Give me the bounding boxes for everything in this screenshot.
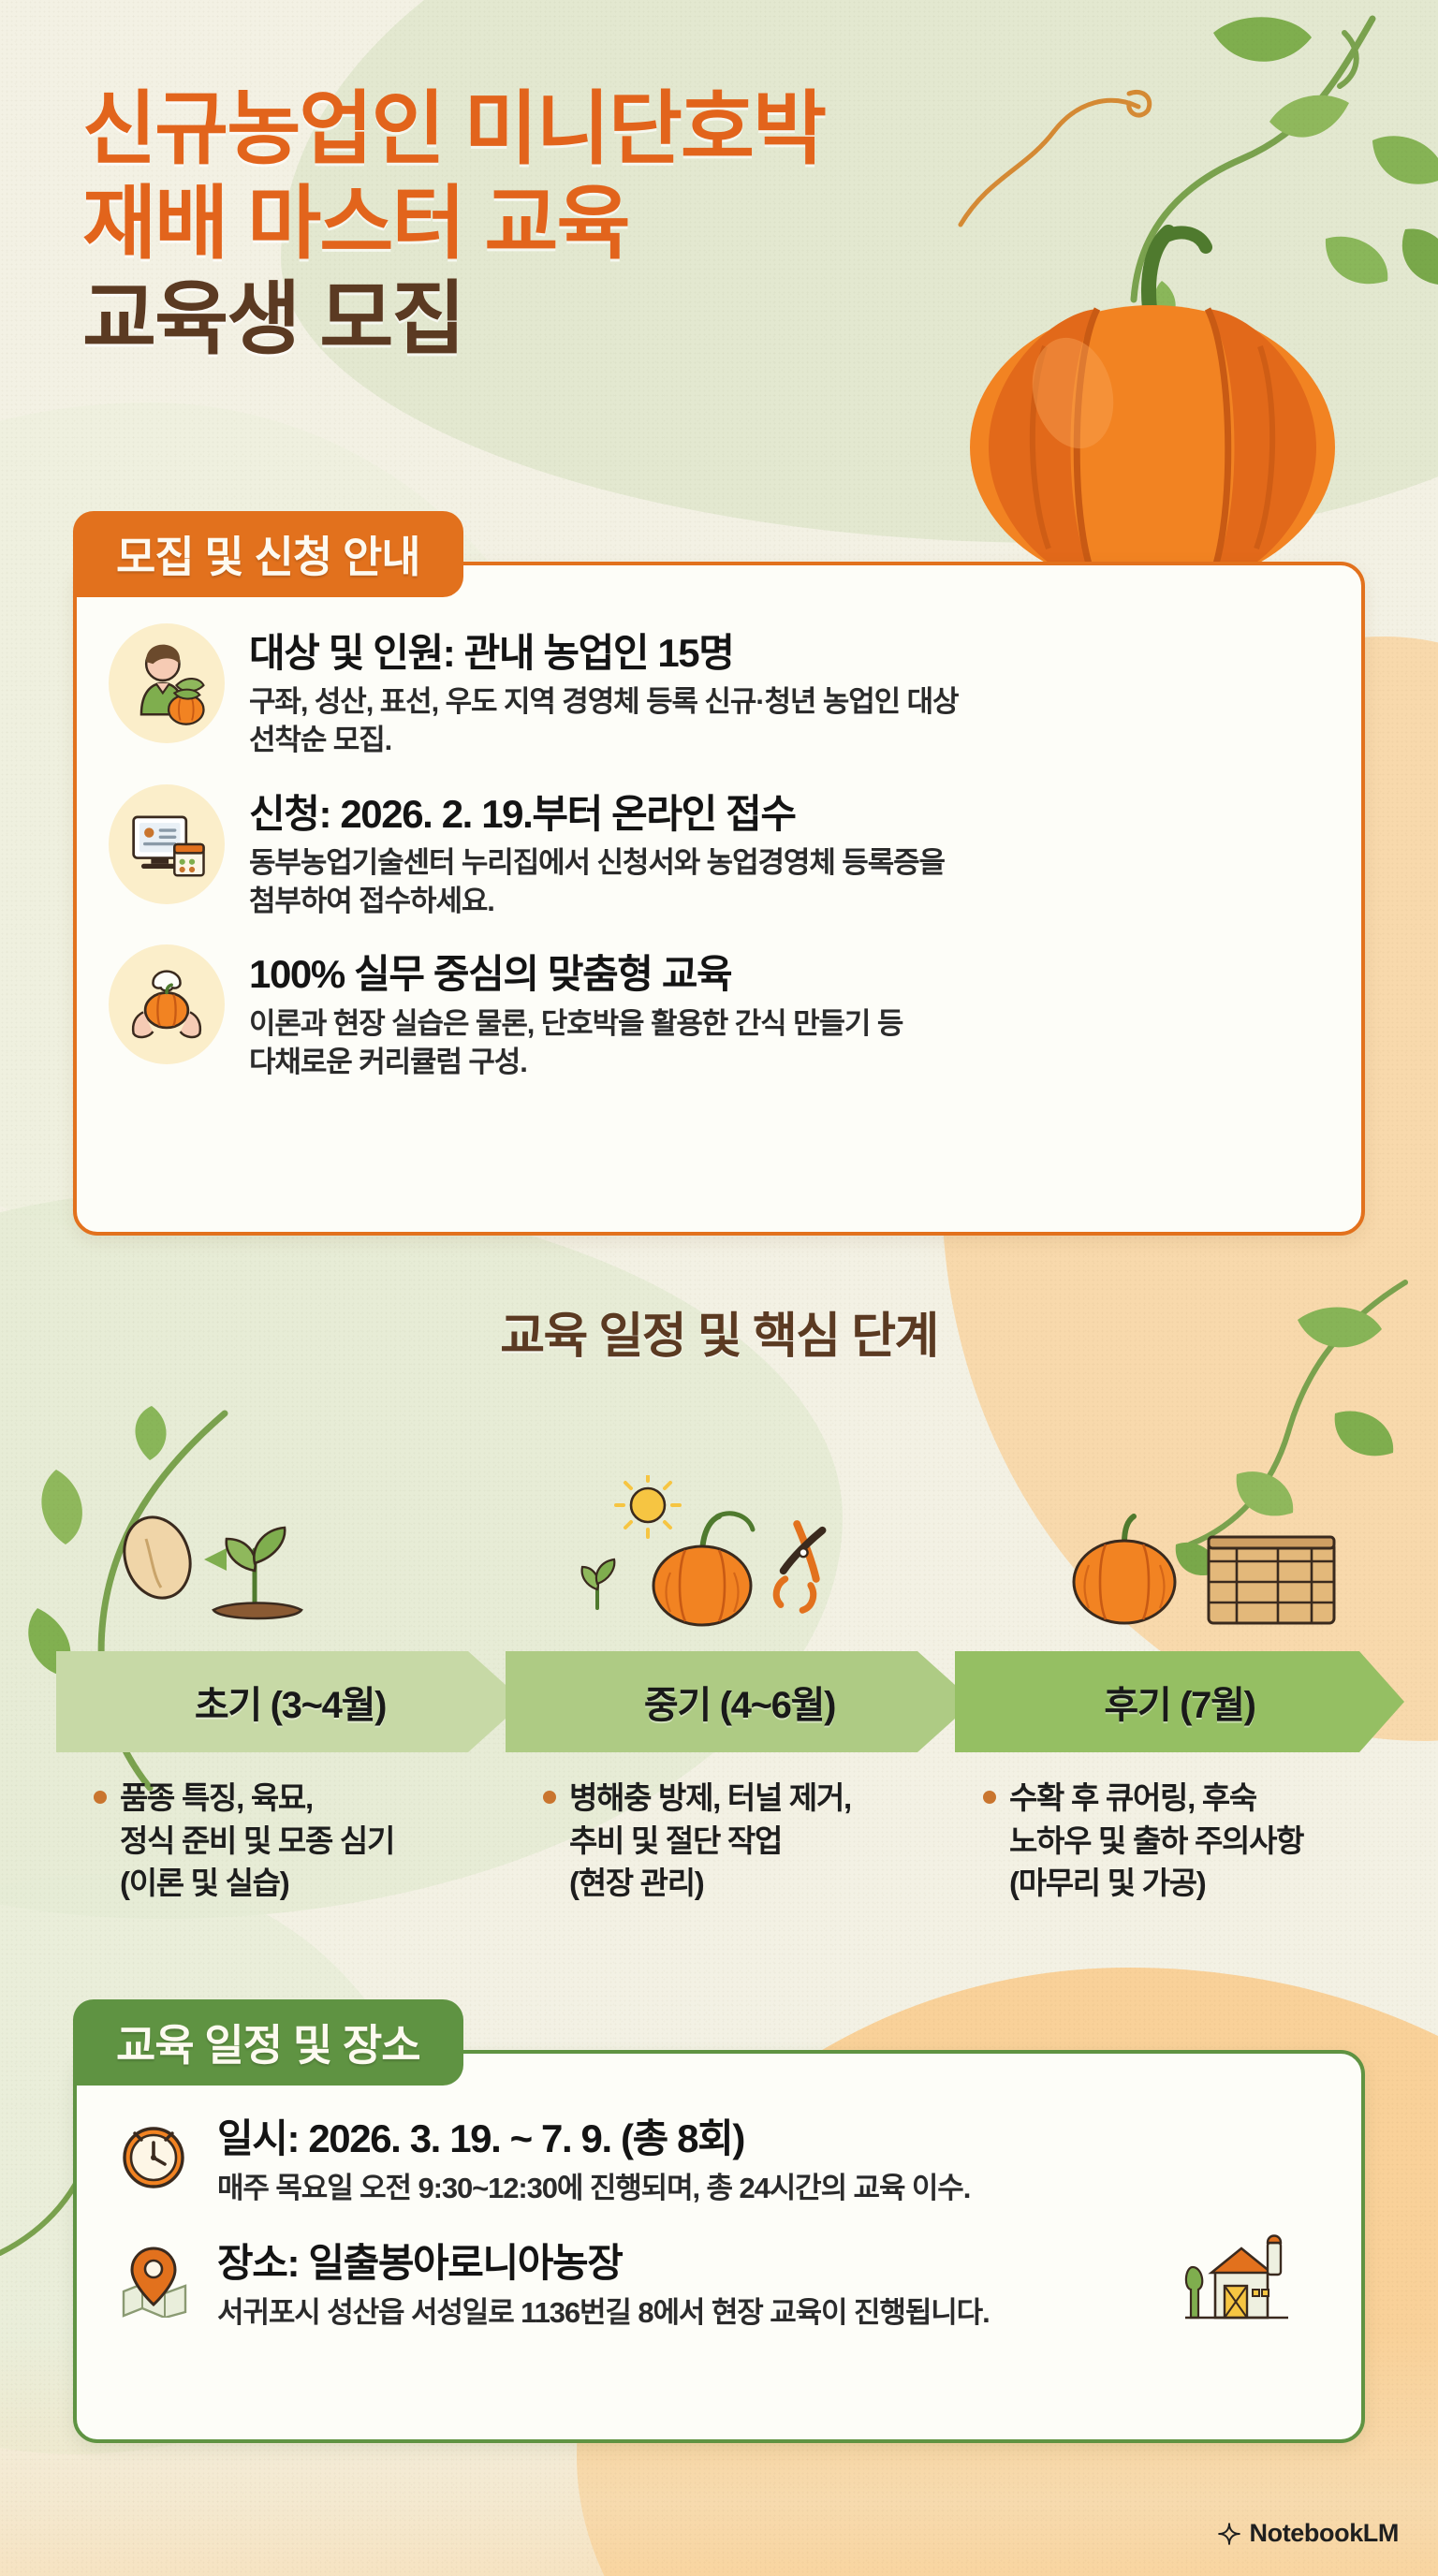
schedule-card: 교육 일정 및 장소 일시: 2026. 3. 19. ~ 7. 9. (총 8…: [73, 2050, 1365, 2443]
timeline-section-title: 교육 일정 및 핵심 단계: [0, 1296, 1438, 1367]
stage-bullet-2: 병해충 방제, 터널 제거, 추비 및 절단 작업 (현장 관리): [543, 1777, 946, 1905]
info-heading: 신청: 2026. 2. 19.부터 온라인 접수: [249, 790, 945, 838]
schedule-heading: 일시: 2026. 3. 19. ~ 7. 9. (총 8회): [217, 2115, 970, 2162]
stage-chevron-1: 초기 (3~4월): [56, 1651, 524, 1752]
recruitment-card: 모집 및 신청 안내: [73, 562, 1365, 1236]
bullet-line-2: 노하우 및 출하 주의사항: [1009, 1820, 1303, 1863]
online-application-icon: [109, 784, 225, 904]
stage-chevron-2: 중기 (4~6월): [506, 1651, 974, 1752]
schedule-body: 서귀포시 성산읍 서성일로 1136번길 8에서 현장 교육이 진행됩니다.: [217, 2294, 990, 2332]
poster-root: 신규농업인 미니단호박 재배 마스터 교육 교육생 모집 모집 및 신청 안내: [0, 0, 1438, 2576]
stage-art-1: [0, 1423, 479, 1647]
notebooklm-watermark: NotebookLM: [1217, 2519, 1399, 2548]
bullet-line-3: (마무리 및 가공): [1009, 1862, 1303, 1905]
info-text-application: 신청: 2026. 2. 19.부터 온라인 접수 동부농업기술센터 누리집에서…: [249, 784, 945, 921]
recruitment-info-list: 대상 및 인원: 관내 농업인 15명 구좌, 성산, 표선, 우도 지역 경영…: [109, 623, 1335, 1105]
title-line-1: 신규농업인 미니단호박: [82, 82, 1019, 177]
stage-art-2: [479, 1423, 959, 1647]
stage-bullet-1: 품종 특징, 육묘, 정식 준비 및 모종 심기 (이론 및 실습): [94, 1777, 506, 1905]
bullet-line-1: 품종 특징, 육묘,: [120, 1777, 394, 1820]
watermark-label: NotebookLM: [1250, 2519, 1399, 2548]
clock-icon: [114, 2115, 193, 2196]
timeline-illustrations: [0, 1423, 1438, 1647]
bullet-line-1: 수확 후 큐어링, 후숙: [1009, 1777, 1303, 1820]
schedule-row-datetime: 일시: 2026. 3. 19. ~ 7. 9. (총 8회) 매주 목요일 오…: [114, 2115, 1333, 2208]
bullet-line-2: 추비 및 절단 작업: [569, 1820, 851, 1863]
info-row-target-count: 대상 및 인원: 관내 농업인 15명 구좌, 성산, 표선, 우도 지역 경영…: [109, 623, 1335, 760]
info-body-line-1: 동부농업기술센터 누리집에서 신청서와 농업경영체 등록증을: [249, 843, 945, 882]
timeline-chevrons: 초기 (3~4월) 중기 (4~6월) 후기 (7월): [0, 1651, 1438, 1752]
map-pin-icon: [114, 2240, 193, 2320]
bullet-line-1: 병해충 방제, 터널 제거,: [569, 1777, 851, 1820]
title-line-3: 교육생 모집: [82, 272, 1019, 367]
farmer-with-pumpkin-icon: [109, 623, 225, 743]
bullet-dot-icon: [983, 1791, 996, 1804]
training-timeline: 초기 (3~4월) 중기 (4~6월) 후기 (7월) 품종 특징, 육묘, 정…: [0, 1423, 1438, 1964]
bullet-dot-icon: [94, 1791, 107, 1804]
info-text-curriculum: 100% 실무 중심의 맞춤형 교육 이론과 현장 실습은 물론, 단호박을 활…: [249, 944, 902, 1081]
bullet-dot-icon: [543, 1791, 556, 1804]
bullet-line-3: (이론 및 실습): [120, 1862, 394, 1905]
stage-chevron-3: 후기 (7월): [955, 1651, 1404, 1752]
info-body-line-1: 이론과 현장 실습은 물론, 단호박을 활용한 간식 만들기 등: [249, 1004, 902, 1043]
poster-title: 신규농업인 미니단호박 재배 마스터 교육 교육생 모집: [82, 82, 1019, 367]
bullet-line-2: 정식 준비 및 모종 심기: [120, 1820, 394, 1863]
info-text-target-count: 대상 및 인원: 관내 농업인 15명 구좌, 성산, 표선, 우도 지역 경영…: [249, 623, 958, 760]
seed-and-sprout-icon: [99, 1485, 380, 1644]
schedule-row-venue: 장소: 일출봉아로니아농장 서귀포시 성산읍 서성일로 1136번길 8에서 현…: [114, 2240, 1333, 2333]
bullet-line-3: (현장 관리): [569, 1862, 851, 1905]
schedule-card-tab: 교육 일정 및 장소: [73, 1999, 463, 2086]
schedule-heading: 장소: 일출봉아로니아농장: [217, 2240, 990, 2287]
info-body-line-2: 선착순 모집.: [249, 721, 958, 759]
recruitment-card-tab: 모집 및 신청 안내: [73, 511, 463, 597]
timeline-bullets: 품종 특징, 육묘, 정식 준비 및 모종 심기 (이론 및 실습) 병해충 방…: [0, 1777, 1438, 1964]
info-row-application: 신청: 2026. 2. 19.부터 온라인 접수 동부농업기술센터 누리집에서…: [109, 784, 1335, 921]
info-heading: 100% 실무 중심의 맞춤형 교육: [249, 950, 902, 998]
notebooklm-spark-icon: [1217, 2522, 1241, 2546]
title-line-2: 재배 마스터 교육: [82, 177, 1019, 271]
info-row-curriculum: 100% 실무 중심의 맞춤형 교육 이론과 현장 실습은 물론, 단호박을 활…: [109, 944, 1335, 1081]
info-body-line-2: 다채로운 커리큘럼 구성.: [249, 1043, 902, 1081]
schedule-list: 일시: 2026. 3. 19. ~ 7. 9. (총 8회) 매주 목요일 오…: [114, 2115, 1333, 2364]
schedule-text-datetime: 일시: 2026. 3. 19. ~ 7. 9. (총 8회) 매주 목요일 오…: [217, 2115, 970, 2208]
harvest-crate-icon: [1044, 1485, 1353, 1644]
info-body-line-2: 첨부하여 접수하세요.: [249, 882, 945, 920]
barn-icon: [1178, 2220, 1299, 2333]
schedule-body: 매주 목요일 오전 9:30~12:30에 진행되며, 총 24시간의 교육 이…: [217, 2170, 970, 2207]
stage-art-3: [959, 1423, 1438, 1647]
stage-bullet-3: 수확 후 큐어링, 후숙 노하우 및 출하 주의사항 (마무리 및 가공): [983, 1777, 1404, 1905]
info-heading: 대상 및 인원: 관내 농업인 15명: [249, 629, 958, 677]
hands-holding-pumpkin-icon: [109, 944, 225, 1064]
info-body-line-1: 구좌, 성산, 표선, 우도 지역 경영체 등록 신규·청년 농업인 대상: [249, 682, 958, 721]
sun-pumpkin-pruner-icon: [560, 1475, 878, 1644]
schedule-text-venue: 장소: 일출봉아로니아농장 서귀포시 성산읍 서성일로 1136번길 8에서 현…: [217, 2240, 990, 2333]
